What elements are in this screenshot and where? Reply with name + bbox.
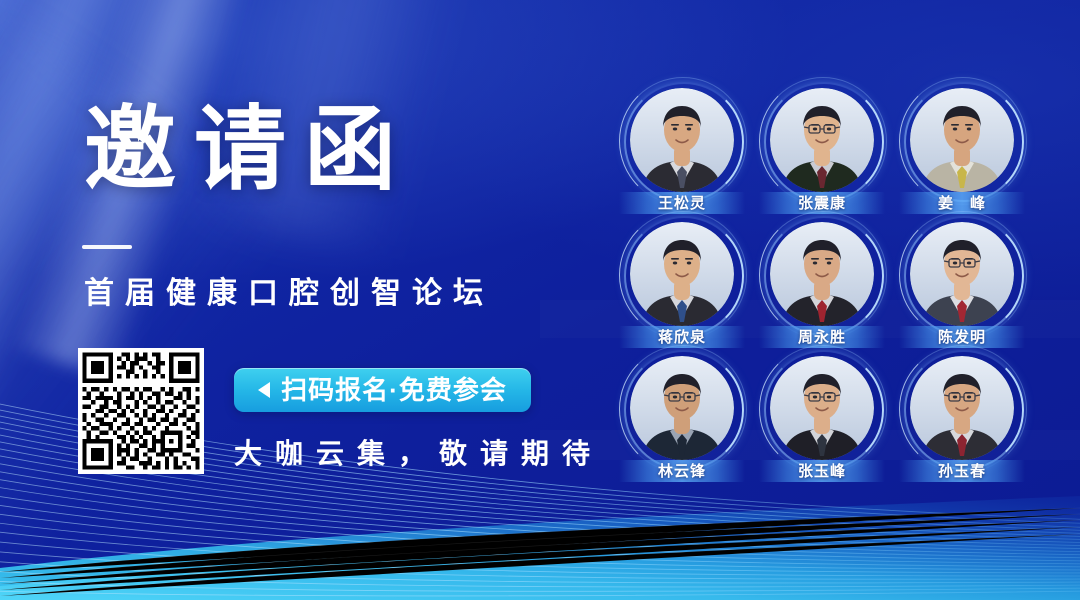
speaker-grid: 王松灵 bbox=[612, 88, 1032, 498]
avatar-ring-icon bbox=[630, 88, 734, 192]
speaker-card[interactable]: 张玉峰 bbox=[752, 356, 892, 490]
left-content-column: 邀请函 首届健康口腔创智论坛 bbox=[0, 0, 600, 600]
avatar-ring-icon bbox=[630, 356, 734, 460]
speaker-name: 陈发明 bbox=[938, 330, 986, 345]
speaker-name: 张玉峰 bbox=[798, 464, 846, 479]
speaker-card[interactable]: 王松灵 bbox=[612, 88, 752, 222]
qr-code-icon[interactable] bbox=[78, 348, 204, 474]
page-subtitle: 首届健康口腔创智论坛 bbox=[84, 268, 494, 312]
speaker-name: 林云锋 bbox=[658, 464, 706, 479]
speaker-card[interactable]: 张震康 bbox=[752, 88, 892, 222]
speaker-name: 周永胜 bbox=[798, 330, 846, 345]
avatar bbox=[910, 88, 1014, 192]
speaker-name-plate: 张玉峰 bbox=[759, 460, 885, 482]
avatar bbox=[630, 222, 734, 326]
avatar-ring-icon bbox=[770, 88, 874, 192]
speaker-name-plate: 孙玉春 bbox=[899, 460, 1025, 482]
speaker-card[interactable]: 陈发明 bbox=[892, 222, 1032, 356]
speaker-card[interactable]: 姜 峰 bbox=[892, 88, 1032, 222]
speaker-name: 王松灵 bbox=[658, 196, 706, 211]
speaker-name: 姜 峰 bbox=[938, 196, 986, 211]
speaker-card[interactable]: 林云锋 bbox=[612, 356, 752, 490]
avatar-ring-icon bbox=[770, 356, 874, 460]
avatar bbox=[910, 222, 1014, 326]
scan-register-button[interactable]: 扫码报名·免费参会 bbox=[234, 368, 531, 412]
avatar bbox=[770, 222, 874, 326]
avatar bbox=[630, 356, 734, 460]
speaker-name: 张震康 bbox=[798, 196, 846, 211]
speaker-card[interactable]: 孙玉春 bbox=[892, 356, 1032, 490]
avatar bbox=[770, 88, 874, 192]
avatar-ring-icon bbox=[910, 88, 1014, 192]
invitation-poster: 邀请函 首届健康口腔创智论坛 bbox=[0, 0, 1080, 600]
avatar bbox=[770, 356, 874, 460]
avatar bbox=[630, 88, 734, 192]
speaker-name-plate: 林云锋 bbox=[619, 460, 745, 482]
title-rule-divider bbox=[82, 245, 132, 249]
tagline-text: 大咖云集，敬请期待 bbox=[234, 432, 603, 472]
speaker-name: 蒋欣泉 bbox=[658, 330, 706, 345]
triangle-left-icon bbox=[258, 382, 270, 398]
speaker-card[interactable]: 蒋欣泉 bbox=[612, 222, 752, 356]
avatar-ring-icon bbox=[770, 222, 874, 326]
avatar-ring-icon bbox=[630, 222, 734, 326]
avatar-ring-icon bbox=[910, 222, 1014, 326]
avatar bbox=[910, 356, 1014, 460]
page-title: 邀请函 bbox=[84, 104, 414, 196]
scan-register-label: 扫码报名·免费参会 bbox=[281, 377, 507, 403]
avatar-ring-icon bbox=[910, 356, 1014, 460]
speaker-name: 孙玉春 bbox=[938, 464, 986, 479]
speaker-card[interactable]: 周永胜 bbox=[752, 222, 892, 356]
